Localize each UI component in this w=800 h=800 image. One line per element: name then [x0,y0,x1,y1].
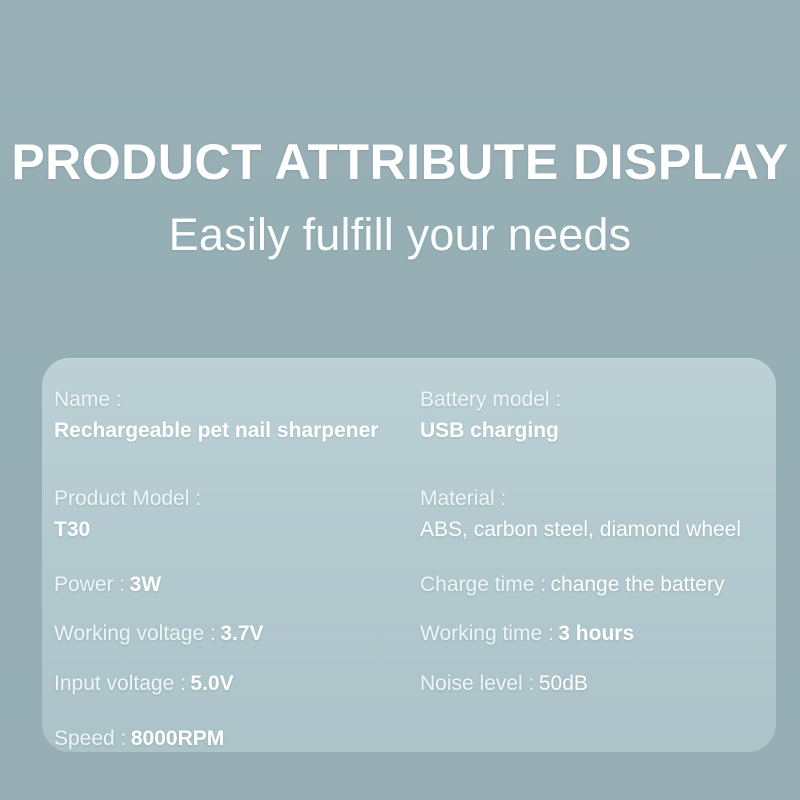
spec-row: Product Model : T30 [54,485,426,544]
spec-row: Name : Rechargeable pet nail sharpener [54,386,426,445]
spec-label: Product Model : [54,487,201,510]
spec-row: Charge time : change the battery [420,571,768,598]
row-spacer [54,543,426,571]
row-spacer [54,598,426,620]
spec-label: Input voltage : [54,672,186,695]
row-spacer [420,543,768,571]
spec-row: Noise level : 50dB [420,670,768,697]
row-spacer [420,445,768,485]
spec-value: T30 [54,516,426,543]
row-spacer [420,648,768,670]
page-title: PRODUCT ATTRIBUTE DISPLAY [0,134,800,190]
spec-value: 50dB [539,672,588,695]
spec-label: Material : [420,487,506,510]
spec-row: Battery model : USB charging [420,386,768,445]
spec-label: Battery model : [420,388,561,411]
spec-columns: Name : Rechargeable pet nail sharpener P… [42,358,776,752]
product-attribute-display: PRODUCT ATTRIBUTE DISPLAY Easily fulfill… [0,0,800,800]
spec-label: Charge time : [420,573,546,596]
spec-row: Material : ABS, carbon steel, diamond wh… [420,485,768,544]
row-spacer [420,598,768,620]
spec-row: Power : 3W [54,571,426,598]
row-spacer [54,648,426,670]
row-spacer [54,697,426,725]
spec-label: Power : [54,573,125,596]
spec-row: Input voltage : 5.0V [54,670,426,697]
spec-row: Working time : 3 hours [420,620,768,647]
spec-row: Speed : 8000RPM [54,725,426,752]
spec-value: 3.7V [220,622,263,645]
spec-value: 8000RPM [131,727,224,750]
row-spacer [54,445,426,485]
spec-label: Noise level : [420,672,534,695]
spec-value: USB charging [420,417,768,444]
spec-value: 3W [130,573,162,596]
spec-value: 5.0V [190,672,233,695]
spec-panel: Name : Rechargeable pet nail sharpener P… [42,358,776,752]
spec-label: Name : [54,388,122,411]
spec-label: Working time : [420,622,554,645]
spec-value: change the battery [551,573,725,596]
spec-value: ABS, carbon steel, diamond wheel [420,516,768,543]
spec-column-left: Name : Rechargeable pet nail sharpener P… [54,386,426,752]
spec-column-right: Battery model : USB charging Material : … [420,386,768,697]
page-subtitle: Easily fulfill your needs [0,208,800,262]
spec-row: Working voltage : 3.7V [54,620,426,647]
spec-value: Rechargeable pet nail sharpener [54,417,426,444]
spec-label: Speed : [54,727,126,750]
spec-label: Working voltage : [54,622,216,645]
spec-value: 3 hours [558,622,634,645]
